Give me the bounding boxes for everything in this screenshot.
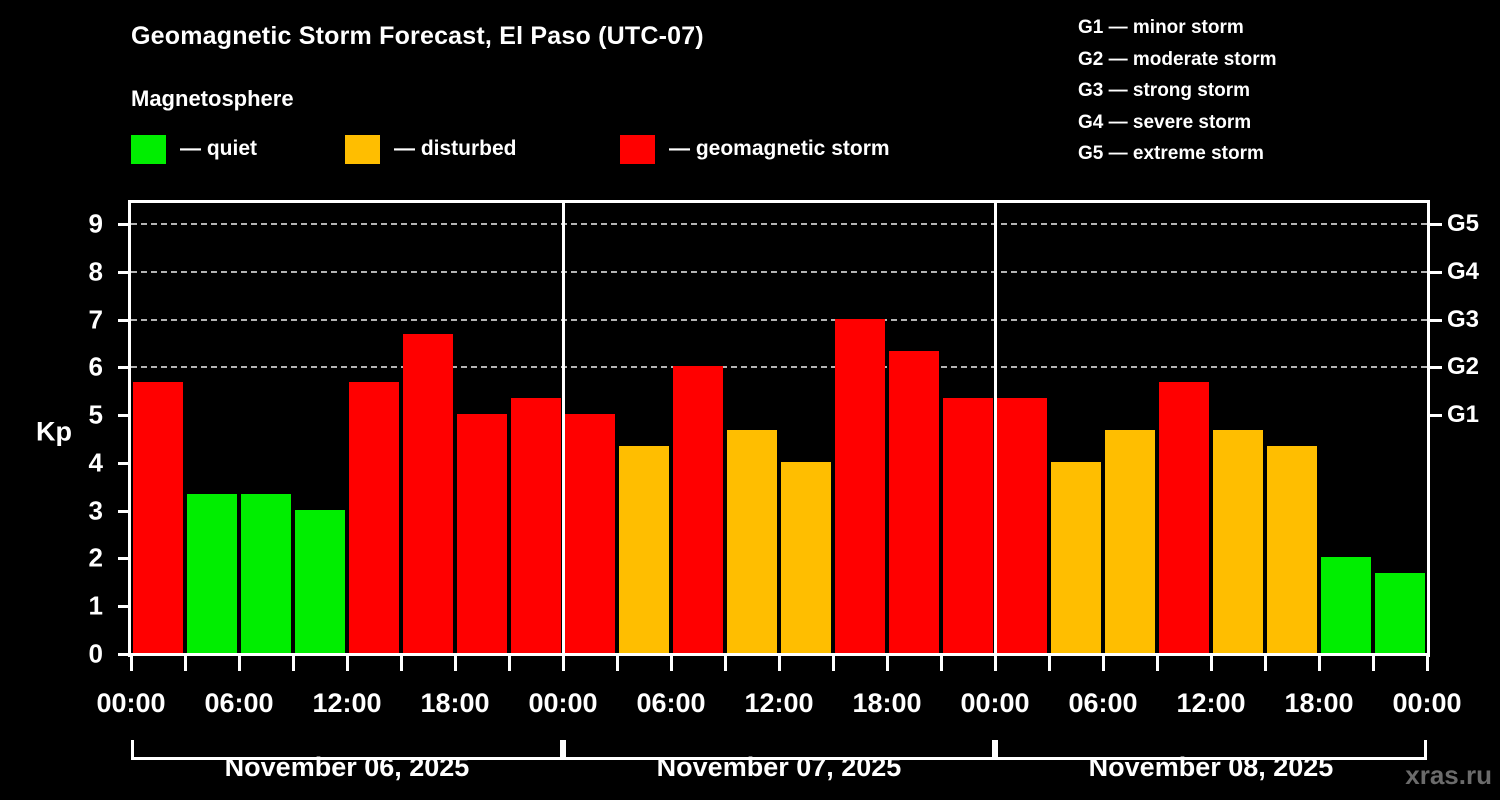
- y-tick-label: 0: [63, 639, 103, 670]
- gridline-kp-7: [131, 319, 1427, 321]
- y-tick-label: 8: [63, 256, 103, 287]
- x-tick: [886, 656, 889, 671]
- day-label: November 07, 2025: [657, 752, 902, 783]
- y-tick-label: 4: [63, 447, 103, 478]
- y-axis-title: Kp: [36, 417, 72, 448]
- g-scale-line-4: G4 — severe storm: [1078, 107, 1277, 139]
- y-tick-label: 1: [63, 591, 103, 622]
- x-tick: [238, 656, 241, 671]
- x-tick: [130, 656, 133, 671]
- y-tick-label: 7: [63, 304, 103, 335]
- g-scale-line-1: G1 — minor storm: [1078, 12, 1277, 44]
- x-tick: [1372, 656, 1375, 671]
- bar-kp[interactable]: [1267, 446, 1317, 653]
- g-axis-label-g1: G1: [1447, 401, 1479, 429]
- x-tick: [1318, 656, 1321, 671]
- x-tick: [616, 656, 619, 671]
- x-tick-label: 12:00: [1176, 688, 1245, 719]
- x-tick-label: 12:00: [312, 688, 381, 719]
- x-tick-label: 06:00: [1068, 688, 1137, 719]
- bar-kp[interactable]: [1159, 382, 1209, 653]
- gridline-kp-8: [131, 271, 1427, 273]
- x-tick: [562, 656, 565, 671]
- gridline-kp-9: [131, 223, 1427, 225]
- bar-kp[interactable]: [295, 510, 345, 653]
- y-tick-label: 9: [63, 209, 103, 240]
- bar-kp[interactable]: [1375, 573, 1425, 653]
- day-label: November 06, 2025: [225, 752, 470, 783]
- bar-kp[interactable]: [943, 398, 993, 653]
- chart-root: Geomagnetic Storm Forecast, El Paso (UTC…: [0, 0, 1500, 800]
- x-tick: [1426, 656, 1429, 671]
- chart-title: Geomagnetic Storm Forecast, El Paso (UTC…: [131, 22, 704, 51]
- g-axis-label-g2: G2: [1447, 353, 1479, 381]
- day-label: November 08, 2025: [1089, 752, 1334, 783]
- g-axis-label-g5: G5: [1447, 210, 1479, 238]
- legend-label-disturbed: — disturbed: [394, 137, 517, 161]
- g-scale-line-5: G5 — extreme storm: [1078, 138, 1277, 170]
- x-tick: [940, 656, 943, 671]
- x-tick-label: 00:00: [1392, 688, 1461, 719]
- watermark: xras.ru: [1405, 760, 1492, 791]
- x-tick: [346, 656, 349, 671]
- x-tick-label: 12:00: [744, 688, 813, 719]
- day-separator: [562, 202, 565, 654]
- plot-border-top: [128, 200, 1430, 203]
- bar-kp[interactable]: [187, 494, 237, 653]
- section-label: Magnetosphere: [131, 86, 294, 112]
- x-tick: [1102, 656, 1105, 671]
- bar-kp[interactable]: [673, 366, 723, 653]
- plot-border-right: [1427, 200, 1430, 657]
- gridline-kp-6: [131, 366, 1427, 368]
- day-separator: [994, 202, 997, 654]
- g-scale-legend: G1 — minor stormG2 — moderate stormG3 — …: [1078, 12, 1277, 170]
- plot-area: [131, 204, 1427, 653]
- bar-kp[interactable]: [403, 334, 453, 653]
- x-tick: [724, 656, 727, 671]
- x-tick: [292, 656, 295, 671]
- x-tick: [1048, 656, 1051, 671]
- legend-item-storm[interactable]: — geomagnetic storm: [620, 134, 890, 164]
- x-tick: [184, 656, 187, 671]
- bar-kp[interactable]: [565, 414, 615, 653]
- bar-kp[interactable]: [727, 430, 777, 653]
- x-tick-label: 00:00: [96, 688, 165, 719]
- g-scale-line-2: G2 — moderate storm: [1078, 44, 1277, 76]
- y-tick: [118, 462, 131, 465]
- bar-kp[interactable]: [349, 382, 399, 653]
- y-tick: [118, 414, 131, 417]
- x-tick: [1210, 656, 1213, 671]
- y-tick: [118, 366, 131, 369]
- legend-swatch-disturbed: [345, 135, 380, 164]
- y-tick: [118, 510, 131, 513]
- x-tick-label: 00:00: [528, 688, 597, 719]
- bar-kp[interactable]: [241, 494, 291, 653]
- g-axis-label-g4: G4: [1447, 258, 1479, 286]
- legend-item-quiet[interactable]: — quiet: [131, 134, 257, 164]
- x-tick: [832, 656, 835, 671]
- x-tick: [454, 656, 457, 671]
- bar-kp[interactable]: [835, 319, 885, 653]
- y-tick: [118, 271, 131, 274]
- legend-item-disturbed[interactable]: — disturbed: [345, 134, 517, 164]
- x-tick: [1156, 656, 1159, 671]
- x-tick-label: 00:00: [960, 688, 1029, 719]
- x-tick-label: 18:00: [852, 688, 921, 719]
- g-axis-label-g3: G3: [1447, 306, 1479, 334]
- bar-kp[interactable]: [1105, 430, 1155, 653]
- y-tick-label: 6: [63, 352, 103, 383]
- y-tick: [118, 319, 131, 322]
- bar-kp[interactable]: [619, 446, 669, 653]
- x-tick: [778, 656, 781, 671]
- bar-kp[interactable]: [889, 351, 939, 653]
- bar-kp[interactable]: [781, 462, 831, 653]
- bar-kp[interactable]: [1321, 557, 1371, 653]
- y-tick: [118, 557, 131, 560]
- bar-kp[interactable]: [997, 398, 1047, 653]
- bar-kp[interactable]: [1051, 462, 1101, 653]
- y-tick-label: 3: [63, 495, 103, 526]
- g-scale-line-3: G3 — strong storm: [1078, 75, 1277, 107]
- y-tick: [118, 223, 131, 226]
- x-tick: [508, 656, 511, 671]
- x-tick-label: 06:00: [204, 688, 273, 719]
- g-axis-tick: [1429, 319, 1442, 322]
- y-tick-label: 2: [63, 543, 103, 574]
- bar-kp[interactable]: [133, 382, 183, 653]
- x-tick-label: 18:00: [420, 688, 489, 719]
- g-axis-tick: [1429, 414, 1442, 417]
- x-tick: [400, 656, 403, 671]
- x-tick: [670, 656, 673, 671]
- x-tick-label: 06:00: [636, 688, 705, 719]
- g-axis-tick: [1429, 366, 1442, 369]
- bar-kp[interactable]: [1213, 430, 1263, 653]
- legend-label-quiet: — quiet: [180, 137, 257, 161]
- x-tick-label: 18:00: [1284, 688, 1353, 719]
- legend-swatch-storm: [620, 135, 655, 164]
- y-tick: [118, 605, 131, 608]
- legend-swatch-quiet: [131, 135, 166, 164]
- bar-kp[interactable]: [511, 398, 561, 653]
- legend-label-storm: — geomagnetic storm: [669, 137, 890, 161]
- x-tick: [994, 656, 997, 671]
- g-axis-tick: [1429, 223, 1442, 226]
- g-axis-tick: [1429, 271, 1442, 274]
- bar-kp[interactable]: [457, 414, 507, 653]
- x-tick: [1264, 656, 1267, 671]
